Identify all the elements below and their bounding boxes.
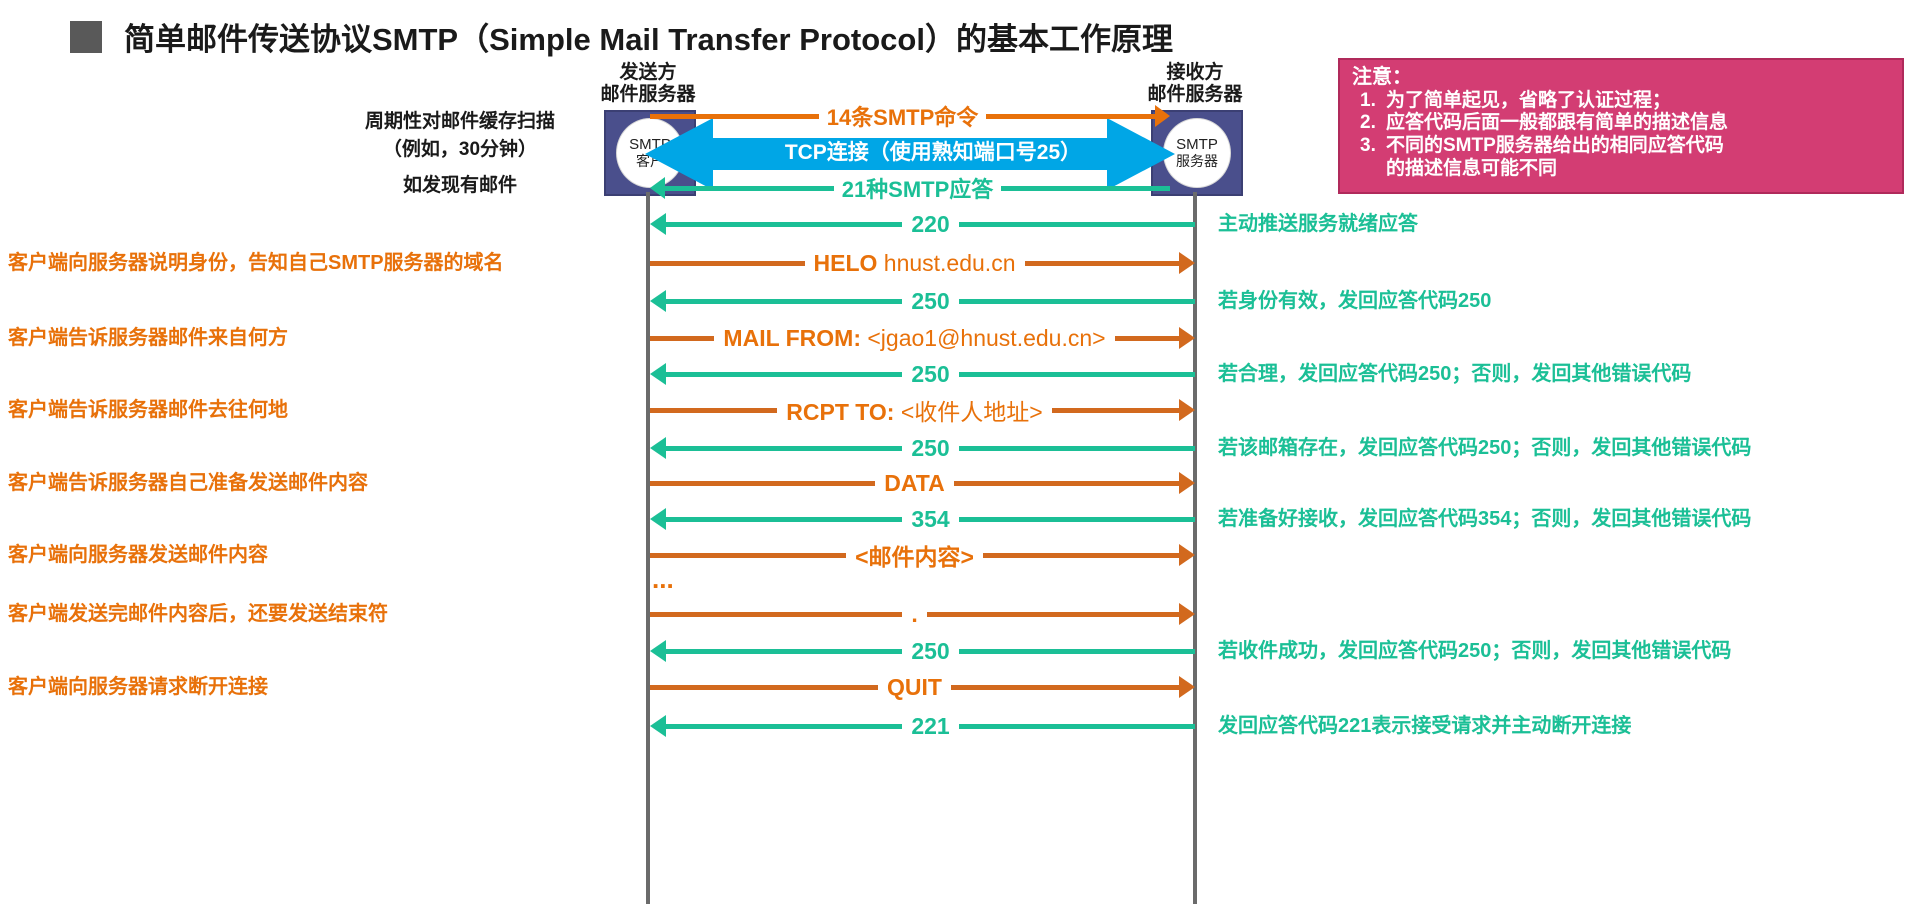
arrow-segment xyxy=(650,685,878,690)
message-label: QUIT xyxy=(878,674,951,701)
arrow-segment xyxy=(1025,261,1180,266)
smtp-server-label-2: 服务器 xyxy=(1176,154,1218,170)
arrow-head-left-icon xyxy=(650,437,666,459)
receiver-header-line1: 接收方 xyxy=(1130,62,1260,84)
arrow-segment xyxy=(650,553,846,558)
message-label: 220 xyxy=(902,211,958,238)
title-marker-icon xyxy=(70,21,102,53)
message-arrow-right: . xyxy=(650,594,1195,634)
message-label: . xyxy=(902,601,926,628)
message-row: 客户端向服务器请求断开连接 QUIT xyxy=(0,667,1911,707)
arrow-segment-left xyxy=(650,114,819,119)
message-arrow-right: QUIT xyxy=(650,667,1195,707)
note-item: 3.不同的SMTP服务器给出的相同应答代码 xyxy=(1386,135,1892,158)
note-item-number: 2. xyxy=(1360,112,1376,135)
message-row: 客户端向服务器发送邮件内容 <邮件内容> xyxy=(0,535,1911,575)
note-title: 注意： xyxy=(1352,66,1892,90)
message-label: 221 xyxy=(902,713,958,740)
message-label: 354 xyxy=(902,506,958,533)
arrow-head-right-icon xyxy=(1179,544,1195,566)
message-row: 若收件成功，发回应答代码250；否则，发回其他错误代码 250 xyxy=(0,631,1911,671)
message-label: MAIL FROM: <jgao1@hnust.edu.cn> xyxy=(714,325,1114,352)
arrow-head-right-icon xyxy=(1179,676,1195,698)
arrow-head-left-icon xyxy=(650,508,666,530)
arrow-segment xyxy=(650,261,805,266)
message-label: 250 xyxy=(902,435,958,462)
message-label: 250 xyxy=(902,638,958,665)
arrow-head-left-icon xyxy=(650,290,666,312)
arrow-segment xyxy=(650,408,777,413)
arrow-segment xyxy=(959,299,1195,304)
arrow-head-right-icon xyxy=(1179,327,1195,349)
arrow-segment xyxy=(959,517,1195,522)
message-row: 客户端发送完邮件内容后，还要发送结束符 . xyxy=(0,594,1911,634)
arrow-segment xyxy=(954,481,1179,486)
message-label: DATA xyxy=(875,470,953,497)
note-item-number: 3. xyxy=(1360,135,1376,158)
message-arrow-right: <邮件内容> xyxy=(650,535,1195,575)
message-right-note: 若收件成功，发回应答代码250；否则，发回其他错误代码 xyxy=(1218,631,1731,671)
arrow-head-left-icon xyxy=(650,363,666,385)
scan-note-line1: 周期性对邮件缓存扫描 xyxy=(330,108,590,136)
message-arrow-left: 250 xyxy=(650,428,1195,468)
message-left-note: 客户端向服务器请求断开连接 xyxy=(8,667,268,707)
message-right-note: 发回应答代码221表示接受请求并主动断开连接 xyxy=(1218,706,1631,746)
message-right-note: 若身份有效，发回应答代码250 xyxy=(1218,281,1491,321)
message-row: 主动推送服务就绪应答 220 xyxy=(0,204,1911,244)
message-row: 发回应答代码221表示接受请求并主动断开连接 221 xyxy=(0,706,1911,746)
arrow-head-right-icon xyxy=(1155,105,1170,127)
scan-note: 周期性对邮件缓存扫描 （例如，30分钟） xyxy=(330,108,590,163)
arrow-segment xyxy=(959,372,1195,377)
arrow-segment-right xyxy=(986,114,1155,119)
arrow-segment xyxy=(650,612,902,617)
note-list: 1.为了简单起见，省略了认证过程； 2.应答代码后面一般都跟有简单的描述信息 3… xyxy=(1352,90,1892,181)
message-right-note: 若准备好接收，发回应答代码354；否则，发回其他错误代码 xyxy=(1218,499,1751,539)
note-item-text: 应答代码后面一般都跟有简单的描述信息 xyxy=(1386,112,1728,133)
arrow-segment xyxy=(666,517,902,522)
arrow-segment xyxy=(927,612,1179,617)
scan-note-found: 如发现有邮件 xyxy=(330,172,590,200)
message-arrow-left: 250 xyxy=(650,354,1195,394)
arrow-segment xyxy=(666,222,902,227)
message-left-note: 客户端告诉服务器邮件来自何方 xyxy=(8,318,288,358)
message-arrow-left: 220 xyxy=(650,204,1195,244)
note-item-text: 不同的SMTP服务器给出的相同应答代码 xyxy=(1386,135,1724,156)
message-arrow-left: 250 xyxy=(650,631,1195,671)
message-row: 若该邮箱存在，发回应答代码250；否则，发回其他错误代码 250 xyxy=(0,428,1911,468)
message-arrow-right: DATA xyxy=(650,463,1195,503)
arrow-segment xyxy=(650,336,714,341)
arrow-segment xyxy=(666,299,902,304)
arrow-segment xyxy=(1052,408,1179,413)
scan-note-line3: 如发现有邮件 xyxy=(330,172,590,200)
arrow-segment xyxy=(666,446,902,451)
message-label-arg: <jgao1@hnust.edu.cn> xyxy=(867,325,1105,351)
arrow-segment xyxy=(666,649,902,654)
smtp-commands-label: 14条SMTP命令 xyxy=(819,100,987,132)
message-row: 客户端告诉服务器邮件去往何地 RCPT TO: <收件人地址> xyxy=(0,390,1911,430)
message-left-note: 客户端发送完邮件内容后，还要发送结束符 xyxy=(8,594,388,634)
message-arrow-right: RCPT TO: <收件人地址> xyxy=(650,390,1195,430)
sender-header-line1: 发送方 xyxy=(583,62,713,84)
smtp-commands-arrow: 14条SMTP命令 xyxy=(650,100,1170,132)
message-arrow-left: 250 xyxy=(650,281,1195,321)
arrow-segment xyxy=(959,446,1195,451)
message-left-note: 客户端告诉服务器邮件去往何地 xyxy=(8,390,288,430)
message-left-note: 客户端告诉服务器自己准备发送邮件内容 xyxy=(8,463,368,503)
message-label: RCPT TO: <收件人地址> xyxy=(777,393,1051,427)
note-item-text: 的描述信息可能不同 xyxy=(1386,158,1557,179)
message-arrow-left: 354 xyxy=(650,499,1195,539)
message-label: 250 xyxy=(902,361,958,388)
arrow-segment xyxy=(959,724,1195,729)
message-right-note: 若该邮箱存在，发回应答代码250；否则，发回其他错误代码 xyxy=(1218,428,1751,468)
message-arrow-right: HELO hnust.edu.cn xyxy=(650,243,1195,283)
arrow-segment xyxy=(650,481,875,486)
arrow-head-left-icon xyxy=(650,177,665,199)
title-text: 简单邮件传送协议SMTP（Simple Mail Transfer Protoc… xyxy=(124,14,1173,59)
message-arrow-right: MAIL FROM: <jgao1@hnust.edu.cn> xyxy=(650,318,1195,358)
message-label: <邮件内容> xyxy=(846,538,983,572)
message-label: HELO hnust.edu.cn xyxy=(805,250,1025,277)
arrow-head-right-icon xyxy=(1179,603,1195,625)
message-row: 客户端向服务器说明身份，告知自己SMTP服务器的域名 HELO hnust.ed… xyxy=(0,243,1911,283)
note-callout-box: 注意： 1.为了简单起见，省略了认证过程； 2.应答代码后面一般都跟有简单的描述… xyxy=(1338,58,1904,194)
arrow-segment xyxy=(959,649,1195,654)
message-right-note: 若合理，发回应答代码250；否则，发回其他错误代码 xyxy=(1218,354,1691,394)
smtp-sequence-diagram: 简单邮件传送协议SMTP（Simple Mail Transfer Protoc… xyxy=(0,0,1911,904)
note-item: 的描述信息可能不同 xyxy=(1386,158,1892,181)
message-left-note: 客户端向服务器发送邮件内容 xyxy=(8,535,268,575)
arrow-segment xyxy=(1115,336,1179,341)
tcp-band-label: TCP连接（使用熟知端口号25） xyxy=(723,136,1143,166)
arrow-head-left-icon xyxy=(650,715,666,737)
note-item: 1.为了简单起见，省略了认证过程； xyxy=(1386,90,1892,113)
smtp-replies-arrow: 21种SMTP应答 xyxy=(650,172,1170,204)
message-left-note: 客户端向服务器说明身份，告知自己SMTP服务器的域名 xyxy=(8,243,504,283)
smtp-server-label-1: SMTP xyxy=(1176,137,1218,154)
smtp-replies-label: 21种SMTP应答 xyxy=(834,172,1002,204)
arrow-head-right-icon xyxy=(1179,252,1195,274)
arrow-segment-left xyxy=(665,186,834,191)
arrow-head-right-icon xyxy=(1179,472,1195,494)
arrow-segment xyxy=(666,724,902,729)
ellipsis-marker: ... xyxy=(652,566,674,592)
note-item-number: 1. xyxy=(1360,90,1376,113)
page-title: 简单邮件传送协议SMTP（Simple Mail Transfer Protoc… xyxy=(70,14,1173,59)
message-row: 客户端告诉服务器邮件来自何方 MAIL FROM: <jgao1@hnust.e… xyxy=(0,318,1911,358)
message-label-arg: <收件人地址> xyxy=(901,399,1043,425)
arrow-segment xyxy=(983,553,1179,558)
message-row: 若身份有效，发回应答代码250 250 xyxy=(0,281,1911,321)
arrow-head-left-icon xyxy=(650,213,666,235)
message-row: 若准备好接收，发回应答代码354；否则，发回其他错误代码 354 xyxy=(0,499,1911,539)
scan-note-line2: （例如，30分钟） xyxy=(330,136,590,164)
message-right-note: 主动推送服务就绪应答 xyxy=(1218,204,1418,244)
message-label-arg: hnust.edu.cn xyxy=(884,250,1016,276)
note-item-text: 为了简单起见，省略了认证过程； xyxy=(1386,90,1671,111)
message-row: 客户端告诉服务器自己准备发送邮件内容 DATA xyxy=(0,463,1911,503)
note-item: 2.应答代码后面一般都跟有简单的描述信息 xyxy=(1386,112,1892,135)
arrow-head-left-icon xyxy=(650,640,666,662)
arrow-segment xyxy=(666,372,902,377)
message-label: 250 xyxy=(902,288,958,315)
message-row: 若合理，发回应答代码250；否则，发回其他错误代码 250 xyxy=(0,354,1911,394)
arrow-segment-right xyxy=(1001,186,1170,191)
arrow-segment xyxy=(959,222,1195,227)
message-arrow-left: 221 xyxy=(650,706,1195,746)
arrow-segment xyxy=(951,685,1179,690)
arrow-head-right-icon xyxy=(1179,399,1195,421)
